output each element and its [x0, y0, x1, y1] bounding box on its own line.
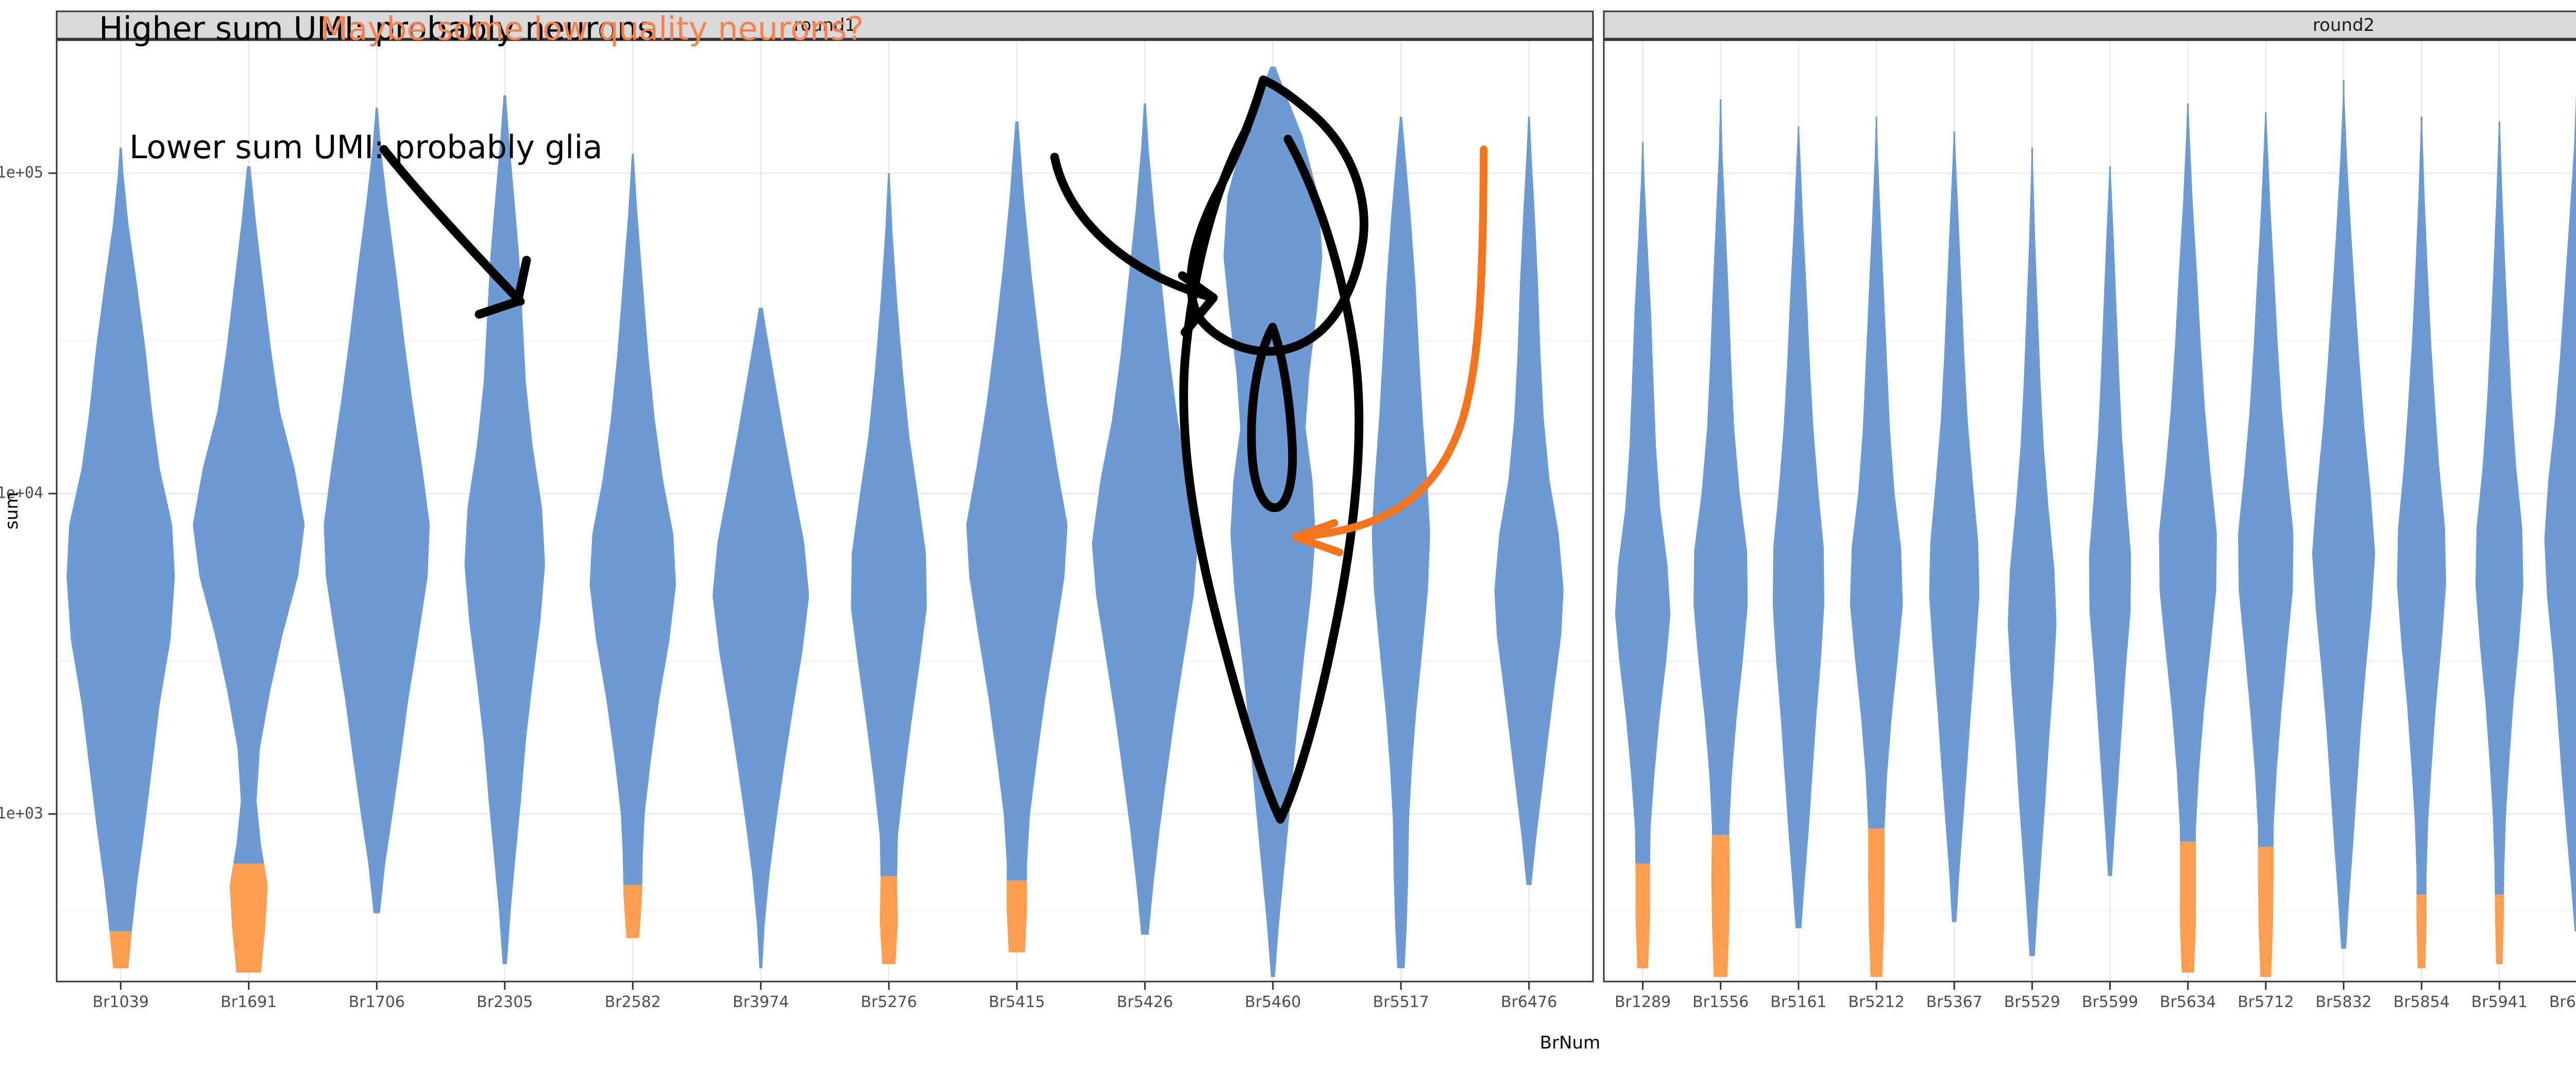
panel-round2: round2: [1604, 11, 2576, 982]
violin-low-sum-true-Br1039: [110, 932, 132, 969]
violin-low-sum-true-Br5712: [2258, 847, 2274, 977]
xtick-label-Br5529: Br5529: [2004, 993, 2060, 1011]
xtick-label-Br5634: Br5634: [2160, 993, 2216, 1011]
xtick-label-Br2305: Br2305: [477, 993, 533, 1011]
violin-low-sum-true-Br5941: [2495, 894, 2504, 964]
xtick-label-Br2582: Br2582: [605, 993, 661, 1011]
xtick-label-Br1556: Br1556: [1692, 993, 1749, 1011]
xtick-label-Br5712: Br5712: [2238, 993, 2294, 1011]
xtick-label-Br5276: Br5276: [861, 993, 917, 1011]
ytick-label-1e+03: 1e+03: [0, 804, 43, 822]
violin-low-sum-true-Br5854: [2416, 894, 2427, 968]
xtick-label-Br5460: Br5460: [1245, 993, 1301, 1011]
xtick-label-Br5161: Br5161: [1770, 993, 1826, 1011]
xtick-label-Br5832: Br5832: [2315, 993, 2371, 1011]
violin-low-sum-true-Br2582: [623, 885, 642, 938]
xtick-label-Br5854: Br5854: [2394, 993, 2450, 1011]
figure-root: round1round2 Br1039Br1691Br1706Br2305Br2…: [0, 0, 2576, 1082]
facet-strip-label-round2: round2: [2313, 15, 2375, 36]
xtick-label-Br6476: Br6476: [1501, 993, 1557, 1011]
xtick-label-Br1691: Br1691: [221, 993, 277, 1011]
maybe-low-quality-note: Maybe some low quality neurons?: [320, 10, 864, 47]
facet-strip-round2: [1604, 11, 2576, 39]
xtick-label-Br5941: Br5941: [2471, 993, 2528, 1011]
violin-low-sum-true-Br1691: [230, 864, 268, 972]
violin-low-sum-true-Br5415: [1007, 881, 1027, 953]
violin-low-sum-true-Br1556: [1711, 835, 1730, 977]
xtick-label-Br5517: Br5517: [1373, 993, 1429, 1011]
violin-low-sum-true-Br5276: [880, 876, 898, 964]
violin-low-sum-true-Br5634: [2180, 841, 2196, 972]
xtick-label-Br1289: Br1289: [1615, 993, 1671, 1011]
x-axis-title: BrNum: [1540, 1033, 1600, 1053]
xtick-label-Br1706: Br1706: [349, 993, 405, 1011]
xtick-label-Br5367: Br5367: [1926, 993, 1982, 1011]
y-axis-title: sum: [2, 492, 22, 529]
violin-low-sum-true-Br5212: [1868, 829, 1885, 977]
ytick-label-1e+05: 1e+05: [0, 164, 43, 182]
xtick-label-Br1039: Br1039: [93, 993, 149, 1011]
xtick-label-Br5212: Br5212: [1848, 993, 1904, 1011]
xtick-label-Br5426: Br5426: [1117, 993, 1173, 1011]
violin-plot-svg: round1round2 Br1039Br1691Br1706Br2305Br2…: [0, 0, 2576, 1082]
xtick-label-Br3974: Br3974: [733, 993, 789, 1011]
violin-low-sum-true-Br1289: [1635, 864, 1650, 968]
xtick-label-Br5415: Br5415: [989, 993, 1045, 1011]
lower-sum-note: Lower sum UMI: probably glia: [129, 128, 602, 166]
xtick-label-Br5599: Br5599: [2082, 993, 2138, 1011]
xtick-label-Br6085: Br6085: [2549, 993, 2576, 1011]
